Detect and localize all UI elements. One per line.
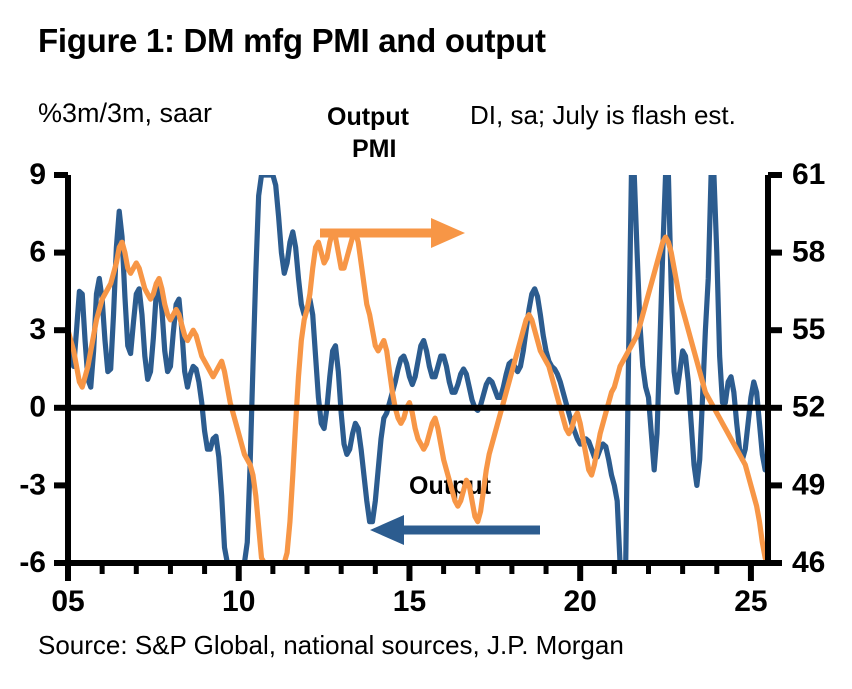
right-axis-tick-label: 49 (792, 468, 825, 501)
figure-container: Figure 1: DM mfg PMI and output %3m/3m, … (0, 0, 852, 689)
chart-plot: -6-303694649525558610510152025 (0, 0, 852, 689)
x-axis-tick-label: 20 (564, 585, 597, 618)
left-axis-tick-label: 6 (29, 236, 46, 269)
x-axis-tick-label: 25 (734, 585, 767, 618)
left-axis-tick-label: -6 (19, 546, 46, 579)
source-note: Source: S&P Global, national sources, J.… (38, 630, 624, 661)
right-axis-tick-label: 46 (792, 546, 825, 579)
left-axis-tick-label: 9 (29, 158, 46, 191)
right-axis-tick-label: 52 (792, 391, 825, 424)
left-axis-tick-label: 0 (29, 391, 46, 424)
right-axis-tick-label: 61 (792, 158, 825, 191)
x-axis-tick-label: 10 (222, 585, 255, 618)
right-axis-tick-label: 58 (792, 236, 825, 269)
x-axis-tick-label: 15 (393, 585, 426, 618)
arrow-output-pmi-right-head (431, 218, 465, 248)
x-axis-tick-label: 05 (51, 585, 84, 618)
left-axis-tick-label: 3 (29, 313, 46, 346)
right-axis-tick-label: 55 (792, 313, 825, 346)
left-axis-tick-label: -3 (19, 468, 46, 501)
